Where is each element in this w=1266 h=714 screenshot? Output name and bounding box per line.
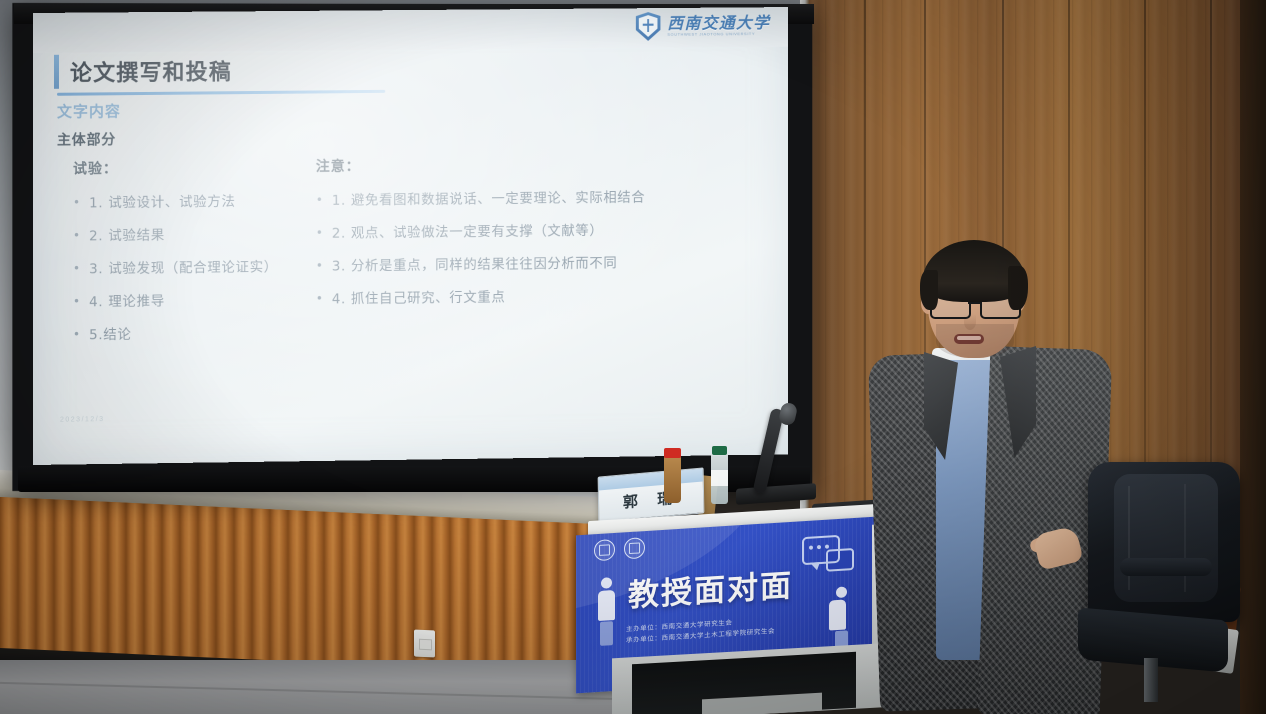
list-item-label: 2. 观点、试验做法一定要有支撑（文献等） (332, 223, 604, 243)
hair-side-left (920, 270, 938, 310)
list-item-label: 5.结论 (89, 326, 132, 343)
section-subtitle-blue: 文字内容 (57, 100, 121, 122)
slide-footer-stamp: 2023/12/3 (60, 416, 105, 424)
university-name: 西南交通大学 (667, 15, 770, 32)
university-emblem-icon (624, 537, 645, 559)
bullet-dot: • (316, 258, 323, 273)
page-title: 论文撰写和投稿 (70, 54, 232, 87)
presenter (880, 230, 1110, 714)
slide-column-left: 试验： • 1. 试验设计、试验方法 • 2. 试验结果 • 3. 试验发现（配… (73, 156, 322, 360)
bullet-dot: • (316, 291, 323, 306)
list-item: • 3. 试验发现（配合理论证实） (73, 258, 322, 278)
list-item-label: 3. 分析是重点，同样的结果往往因分析而不同 (332, 255, 618, 275)
shield-crest-icon (636, 12, 661, 41)
list-item: • 1. 试验设计、试验方法 (73, 193, 322, 212)
bullet-dot: • (73, 228, 80, 243)
university-logo: 西南交通大学 SOUTHWEST JIAOTONG UNIVERSITY (636, 11, 770, 41)
banner-emblems (594, 537, 645, 561)
title-accent-bar (54, 55, 59, 89)
list-item-label: 4. 理论推导 (89, 293, 165, 311)
bottle-cap-red (664, 448, 681, 458)
list-item-label: 1. 避免看图和数据说话、一定要理论、实际相结合 (332, 190, 645, 210)
list-item-label: 3. 试验发现（配合理论证实） (89, 259, 278, 278)
executive-chair (1078, 462, 1254, 714)
university-name-en: SOUTHWEST JIAOTONG UNIVERSITY (667, 32, 770, 37)
slide-title-row: 论文撰写和投稿 (54, 47, 688, 94)
bullet-dot: • (73, 327, 80, 342)
bullet-dot: • (73, 196, 80, 211)
list-item: • 2. 观点、试验做法一定要有支撑（文献等） (316, 221, 750, 243)
bullet-dot: • (316, 226, 323, 241)
column-heading: 注意： (316, 152, 750, 176)
bullet-dot: • (73, 294, 80, 309)
chat-bubble-icon (802, 535, 840, 565)
light-switch[interactable] (414, 630, 435, 658)
hair-side-right (1008, 266, 1028, 310)
bullet-dot: • (73, 261, 80, 276)
list-item-label: 2. 试验结果 (89, 227, 165, 245)
person-standing-icon (598, 577, 615, 644)
list-item-label: 1. 试验设计、试验方法 (89, 194, 236, 212)
bullet-dot: • (316, 193, 323, 208)
list-item: • 2. 试验结果 (73, 226, 322, 246)
bottle-label (711, 470, 728, 486)
list-item: • 5.结论 (73, 324, 322, 344)
list-item: • 4. 抓住自己研究、行文重点 (316, 286, 750, 308)
brown-bottle (664, 455, 681, 503)
bottle-cap-green (712, 446, 727, 455)
university-emblem-icon (594, 539, 615, 561)
mouth-highlight (957, 336, 981, 340)
slide-column-right: 注意： • 1. 避免看图和数据说话、一定要理论、实际相结合 • 2. 观点、试… (316, 152, 750, 324)
chair-lumbar-cushion (1120, 558, 1212, 576)
list-item: • 1. 避免看图和数据说话、一定要理论、实际相结合 (316, 189, 750, 210)
chair-base-stem (1144, 658, 1158, 702)
lecture-hall-photo: 西南交通大学 SOUTHWEST JIAOTONG UNIVERSITY 论文撰… (0, 0, 1266, 714)
title-underline (57, 90, 385, 96)
column-heading: 试验： (73, 156, 322, 178)
floor (0, 660, 660, 714)
list-item-label: 4. 抓住自己研究、行文重点 (332, 289, 506, 308)
list-item: • 4. 理论推导 (73, 291, 322, 311)
chair-backrest (1088, 462, 1240, 622)
list-item: • 3. 分析是重点，同样的结果往往因分析而不同 (316, 254, 750, 276)
section-subtitle-dark: 主体部分 (57, 129, 116, 150)
presentation-slide: 西南交通大学 SOUTHWEST JIAOTONG UNIVERSITY 论文撰… (33, 7, 788, 465)
